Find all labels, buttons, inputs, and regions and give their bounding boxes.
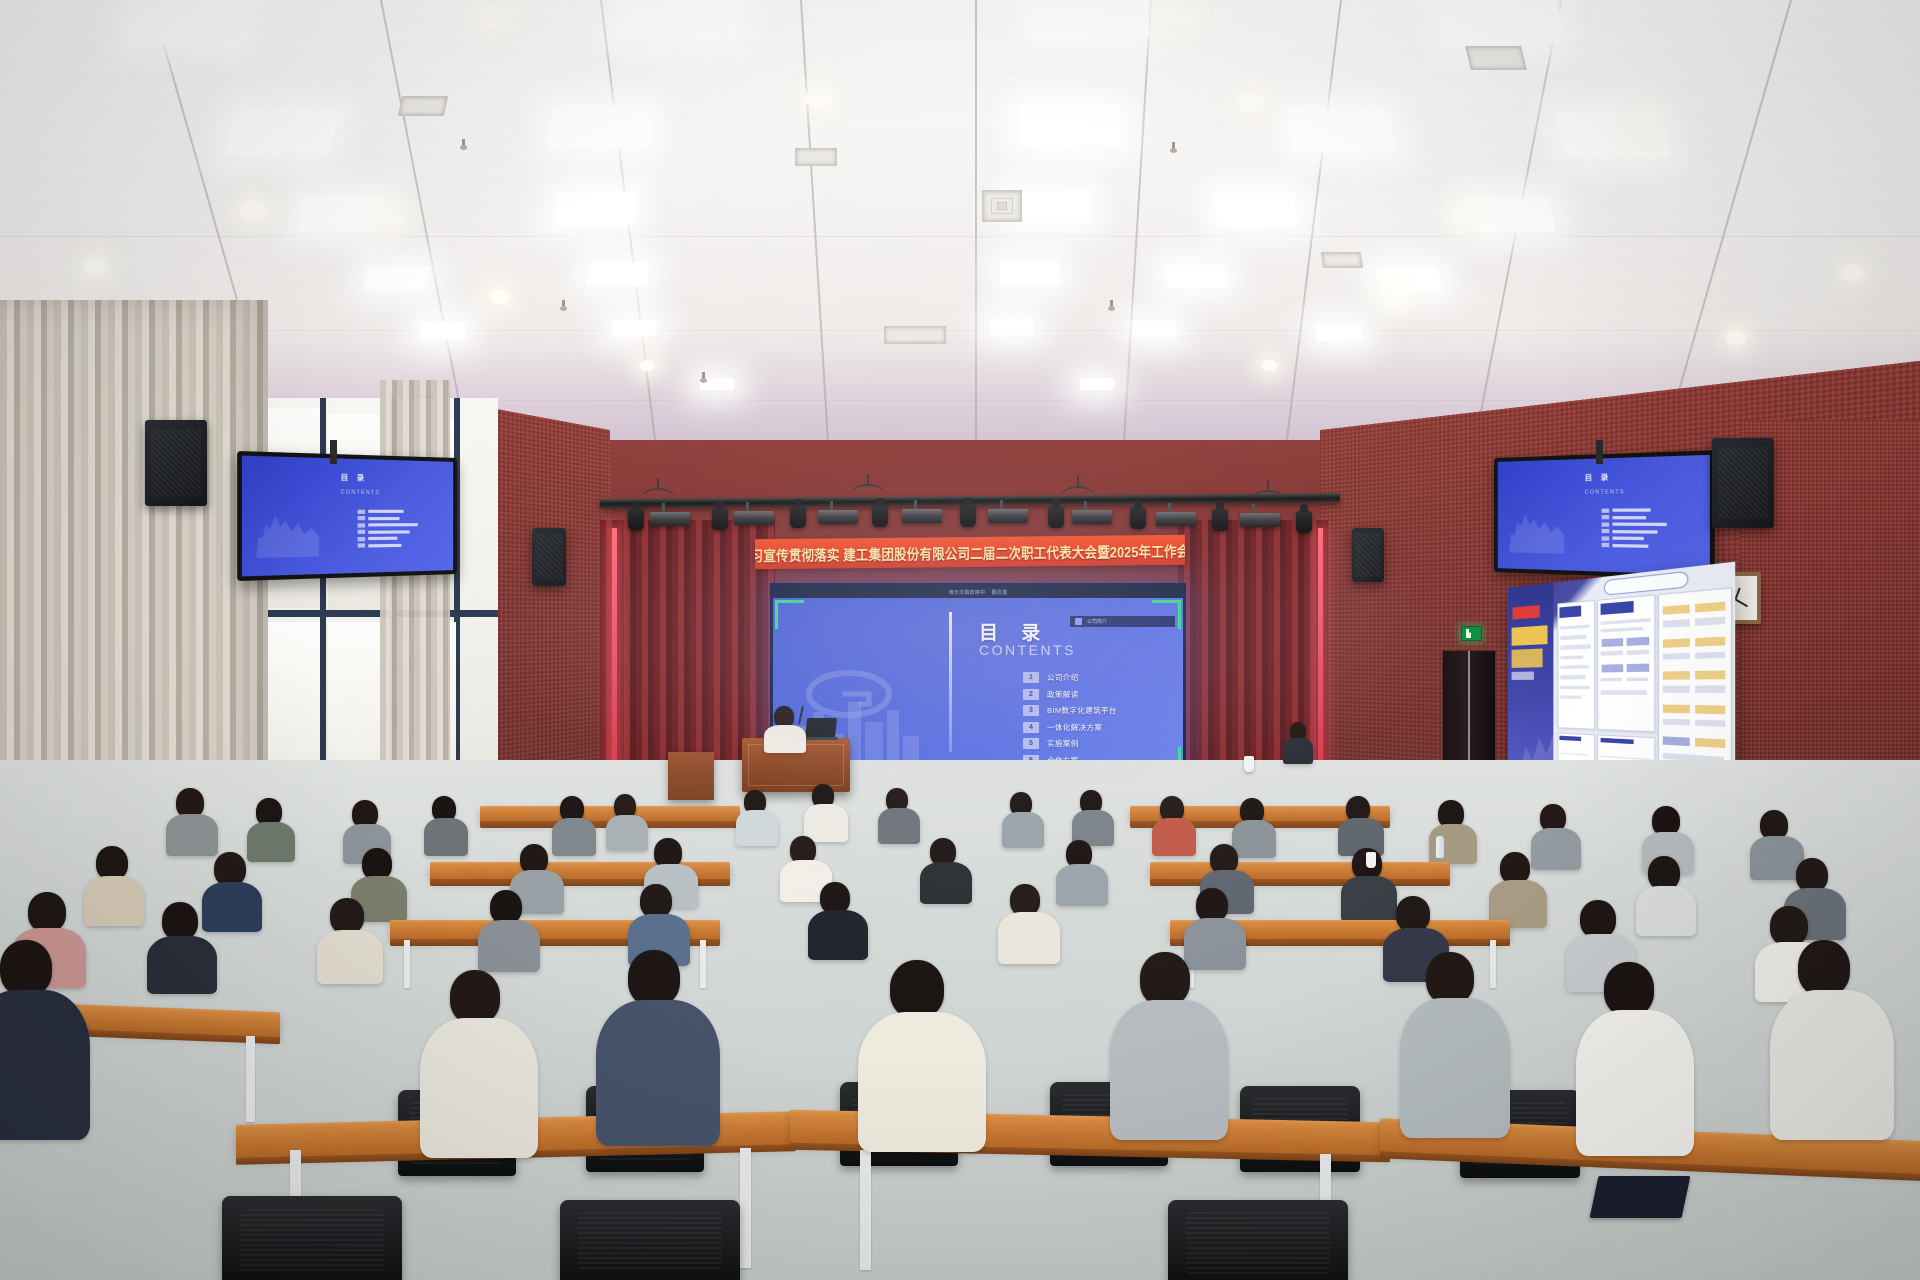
body — [1576, 1010, 1694, 1156]
panel-line — [1560, 752, 1588, 756]
clock-minute-hand — [1734, 598, 1748, 607]
panel-line — [1560, 655, 1583, 659]
ceiling-panel-light — [1466, 198, 1555, 232]
toc-label: BIM数字化建筑平台 — [1047, 705, 1117, 716]
ceiling-panel-light — [1019, 104, 1120, 146]
ceiling-panel-light — [1131, 321, 1176, 337]
conference-hall-photo: 深入学习宣传贯彻落实 建工集团股份有限公司二届二次职工代表大会暨2025年工作会… — [0, 0, 1920, 1280]
list-item — [1601, 515, 1666, 519]
panel-line — [1601, 651, 1623, 656]
panel-block — [1662, 638, 1690, 647]
toc-label: 一体化解决方案 — [1047, 722, 1102, 733]
hvac-diffuser — [398, 96, 448, 116]
panel-line — [1695, 652, 1725, 659]
list-item — [358, 509, 418, 513]
ceiling-downlight — [1842, 264, 1864, 281]
ceiling-downlight — [478, 4, 508, 26]
body — [858, 1012, 986, 1152]
presentation-status-label: 演示文稿放映中 — [948, 589, 985, 596]
head — [628, 950, 680, 1006]
list-item — [358, 543, 418, 548]
stage-spotlight — [960, 505, 976, 527]
badge-square-icon — [1075, 618, 1082, 625]
ceiling-panel-light — [1029, 0, 1150, 38]
panel-block — [1602, 638, 1624, 647]
stage-spotlight — [628, 508, 644, 530]
truss-rigging — [850, 474, 886, 494]
list-item — [358, 536, 418, 541]
ceiling-panel-light — [611, 320, 656, 336]
tv-city-graphic — [1509, 509, 1564, 553]
tv-slide-title-en: CONTENTS — [341, 490, 381, 497]
list-item: 2 政策解读 — [1023, 689, 1186, 700]
desk-leg — [860, 1150, 871, 1270]
list-item: 4 一体化解决方案 — [1023, 722, 1186, 733]
panel-block — [1695, 671, 1725, 680]
foreground-chair — [222, 1196, 402, 1280]
list-item — [1601, 508, 1666, 513]
toc-label: 政策解读 — [1047, 689, 1079, 700]
tv-slide-title-cn: 目 录 — [1585, 472, 1612, 483]
wall-speaker-right — [1712, 438, 1774, 528]
list-item: 3 BIM数字化建筑平台 — [1023, 705, 1186, 716]
stage-spotlight — [712, 508, 728, 530]
panel-line — [1662, 719, 1690, 726]
body — [1400, 998, 1510, 1138]
tv-slide-title-en: CONTENTS — [1585, 489, 1625, 496]
panel-block — [1662, 704, 1690, 713]
panel-line — [1601, 626, 1643, 632]
stage-spotlight — [1296, 511, 1312, 533]
panel-line — [1627, 677, 1649, 681]
side-podium — [668, 752, 714, 800]
screen-corner-marker — [1152, 600, 1181, 629]
panel-block — [1695, 705, 1725, 714]
panel-block — [1602, 664, 1624, 672]
ceiling-panel-light — [547, 106, 654, 148]
desk-leg — [404, 940, 410, 988]
ceiling-panel-light — [1080, 378, 1114, 390]
panel-line — [1560, 695, 1581, 699]
toc-number: 3 — [1023, 705, 1039, 716]
water-cup — [1244, 756, 1254, 772]
ceiling-panel-light — [122, 0, 257, 44]
panel-line — [1601, 690, 1647, 694]
body — [420, 1018, 538, 1158]
ceiling-downlight — [240, 200, 266, 220]
ceiling-downlight — [490, 290, 508, 304]
ceiling-downlight — [1452, 206, 1474, 223]
panel-block — [1662, 737, 1690, 747]
slide-title-en: CONTENTS — [979, 642, 1076, 658]
presenter-laptop — [805, 718, 837, 738]
ceiling-downlight — [84, 258, 106, 275]
desk-leg — [1490, 940, 1496, 988]
panel-line — [1627, 650, 1650, 655]
hvac-diffuser — [1465, 46, 1527, 70]
stage-wash-light — [818, 510, 858, 524]
toc-number: 5 — [1023, 738, 1039, 749]
stage-spotlight — [1212, 509, 1228, 531]
head — [890, 960, 944, 1018]
presentation-clicker-label: 翻页笔 — [992, 589, 1008, 596]
panel-block — [1695, 636, 1725, 646]
hvac-diffuser — [884, 326, 946, 344]
panel-line — [1662, 686, 1690, 692]
tv-mount-arm-left — [330, 440, 337, 464]
head — [1140, 952, 1190, 1006]
window-mullion — [248, 610, 498, 617]
body — [596, 1000, 720, 1146]
panel-line — [1560, 685, 1590, 689]
slide-badge-label: 公司简介 — [1087, 618, 1107, 625]
ceiling-seam-cross — [0, 236, 1920, 237]
stage-spotlight — [872, 505, 888, 527]
ceiling-panel-light — [1165, 265, 1227, 288]
poster-tag — [1512, 605, 1539, 620]
toc-number: 4 — [1023, 722, 1039, 733]
toc-label: 公司介绍 — [1047, 672, 1079, 683]
ceiling-panel-light — [587, 263, 649, 286]
panel-block — [1695, 738, 1725, 748]
toc-number: 1 — [1023, 672, 1039, 683]
ceiling-downlight — [1262, 360, 1277, 371]
truss-rigging — [1250, 480, 1286, 500]
panel-line — [1560, 624, 1589, 630]
hvac-diffuser — [1321, 252, 1364, 268]
body — [1110, 1000, 1228, 1140]
panel-line — [1601, 677, 1622, 681]
panel-header — [1600, 737, 1633, 743]
ceiling-panel-light — [554, 192, 637, 225]
panel-line — [1560, 665, 1588, 669]
panel-block — [1662, 671, 1690, 680]
ceiling-downlight — [805, 88, 831, 108]
list-item — [358, 523, 418, 527]
panel-header — [1560, 735, 1581, 740]
tv-city-graphic — [256, 510, 319, 558]
panel-block — [1662, 605, 1690, 615]
poster-panel — [1557, 600, 1595, 730]
panel-line — [1695, 720, 1725, 727]
stage-spotlight — [790, 506, 806, 528]
ceiling-seam — [975, 0, 977, 465]
stage-wash-light — [902, 509, 942, 523]
panel-line — [1662, 653, 1690, 660]
ceiling-panel-light — [1315, 324, 1363, 341]
panel-block — [1695, 602, 1725, 613]
stage-spotlight — [1130, 507, 1146, 529]
sprinkler-head — [1170, 142, 1177, 154]
wall-tv-left-screen: 目 录 CONTENTS — [242, 456, 453, 577]
event-banner-text: 深入学习宣传贯彻落实 建工集团股份有限公司二届二次职工代表大会暨2025年工作会… — [755, 538, 1185, 566]
panel-line — [1695, 617, 1725, 625]
desk-leg — [700, 940, 706, 988]
stage-wash-light — [988, 509, 1028, 523]
tv-slide-title-cn: 目 录 — [341, 472, 368, 483]
panel-line — [1560, 675, 1585, 679]
ceiling-downlight — [1630, 120, 1656, 140]
tv-slide-list — [1601, 508, 1666, 551]
panel-block — [1627, 637, 1650, 646]
foreground-chair — [1168, 1200, 1348, 1280]
ceiling-downlight — [1165, 6, 1195, 28]
sprinkler-head — [460, 139, 467, 151]
ceiling-panel-light — [225, 110, 339, 154]
head — [0, 940, 52, 996]
audience-desk — [1150, 862, 1450, 880]
wall-speaker-stage-left — [532, 528, 566, 586]
wall-tv-right-screen: 目 录 CONTENTS — [1498, 455, 1710, 575]
panel-line — [1695, 686, 1725, 692]
panel-block — [1627, 664, 1650, 672]
slide-divider — [949, 612, 952, 752]
list-item — [358, 529, 418, 534]
ceiling-panel-light — [364, 266, 430, 290]
ceiling-downlight — [380, 208, 402, 225]
list-item — [358, 516, 418, 520]
sprinkler-head — [1108, 300, 1115, 312]
clock-hour-hand — [1735, 588, 1741, 599]
poster-caption — [1511, 672, 1533, 680]
panel-line — [1662, 619, 1690, 627]
list-item — [1601, 536, 1666, 541]
sprinkler-head — [560, 300, 567, 312]
ceiling-downlight — [640, 360, 655, 371]
panel-line — [1560, 635, 1586, 640]
stage-wash-light — [1072, 510, 1112, 524]
ceiling-panel-light — [990, 319, 1035, 335]
stage-wash-light — [1156, 512, 1196, 526]
curtain-accent-light — [612, 528, 617, 778]
truss-rigging — [1060, 476, 1096, 496]
presentation-toolbar: 演示文稿放映中 翻页笔 — [773, 586, 1183, 598]
presenter-body — [764, 725, 806, 753]
hvac-diffuser — [982, 190, 1022, 222]
sprinkler-head — [700, 372, 707, 384]
toc-number: 2 — [1023, 689, 1039, 700]
panel-header — [1600, 601, 1633, 614]
list-item — [1601, 522, 1666, 527]
ceiling-downlight — [1726, 330, 1746, 345]
ceiling-downlight — [1385, 292, 1403, 306]
panel-line — [1560, 645, 1591, 650]
stage-wash-light — [650, 512, 690, 526]
stage-spotlight — [1048, 506, 1064, 528]
ceiling-seam-cross — [0, 330, 1920, 331]
poster-subheadline — [1511, 648, 1543, 667]
ceiling-panel-light — [617, 0, 743, 38]
poster-panel — [1597, 594, 1655, 732]
wall-speaker-left — [145, 420, 207, 506]
slide-title-cn: 目 录 — [979, 618, 1049, 645]
desk-leg — [740, 1148, 751, 1268]
ceiling-panel-light — [1287, 108, 1395, 151]
tv-mount-arm-right — [1596, 440, 1603, 464]
truss-rigging — [640, 478, 676, 498]
ceiling-panel-light — [419, 322, 467, 339]
screen-corner-marker — [775, 600, 804, 629]
exit-sign-icon — [1461, 626, 1482, 641]
head — [1426, 952, 1474, 1004]
ceiling-panel-light — [1376, 268, 1442, 292]
head — [1798, 940, 1850, 996]
body — [1283, 738, 1313, 764]
panel-header — [1560, 606, 1581, 618]
head — [1604, 962, 1654, 1016]
event-banner: 深入学习宣传贯彻落实 建工集团股份有限公司二届二次职工代表大会暨2025年工作会… — [755, 535, 1185, 570]
foreground-chair — [560, 1200, 740, 1280]
hvac-diffuser — [795, 148, 837, 166]
ceiling-panel-light — [1214, 194, 1298, 227]
stage-wash-light — [734, 511, 774, 525]
ceiling-downlight — [1238, 92, 1264, 112]
desk-leg — [246, 1036, 255, 1122]
ceiling-panel-light — [297, 196, 386, 230]
wall-tv-left: 目 录 CONTENTS — [237, 451, 457, 581]
body — [1770, 990, 1894, 1140]
panel-line — [1601, 618, 1650, 625]
ceiling-panel-light — [1434, 0, 1566, 44]
water-bottle — [1436, 836, 1444, 858]
ceiling-panel-light — [1000, 262, 1061, 285]
list-item — [1601, 529, 1666, 534]
stage-wash-light — [1240, 513, 1280, 527]
head — [450, 970, 500, 1024]
list-item — [1601, 543, 1666, 548]
wall-tv-right: 目 录 CONTENTS — [1494, 450, 1715, 580]
toc-label: 实施案例 — [1047, 738, 1079, 749]
list-item: 1 公司介绍 — [1023, 672, 1186, 683]
water-cup — [1366, 852, 1376, 868]
notebook — [1590, 1176, 1691, 1218]
curtain-accent-light — [1318, 528, 1323, 773]
wall-speaker-stage-right — [1352, 528, 1384, 582]
body — [0, 990, 90, 1140]
poster-headline — [1511, 625, 1547, 646]
tv-slide-list — [358, 509, 418, 550]
